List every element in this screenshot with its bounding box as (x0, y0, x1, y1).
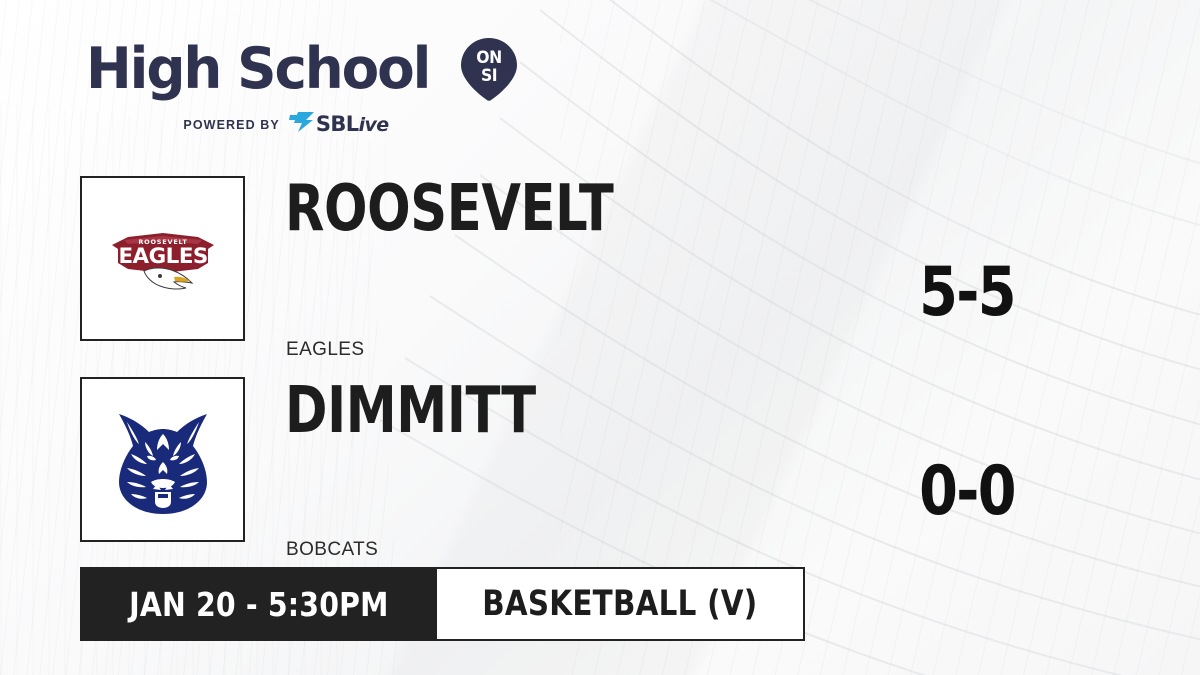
event-banner: JAN 20 - 5:30PM BASKETBALL (V) (80, 567, 805, 641)
team-mascot-roosevelt: EAGLES (286, 339, 364, 361)
svg-text:ON: ON (476, 47, 501, 67)
powered-by-row: POWERED BY SBLive (86, 112, 486, 137)
event-sport-block: BASKETBALL (V) (437, 567, 805, 641)
team-record-roosevelt: 5-5 (893, 259, 1041, 327)
sblive-logo: SBLive (289, 112, 389, 137)
svg-text:SI: SI (480, 65, 496, 85)
sblive-main: SBL (316, 112, 359, 136)
powered-by-label: POWERED BY (183, 118, 279, 132)
logo-wordmark: High School (86, 41, 429, 98)
team-name-roosevelt: ROOSEVELT (285, 177, 613, 241)
team-logo-roosevelt: ROOSEVELT EAGLES (80, 176, 245, 341)
team-record-dimmitt: 0-0 (893, 458, 1041, 526)
sblive-suffix: ive (359, 114, 389, 136)
svg-text:EAGLES: EAGLES (118, 244, 207, 269)
on-si-pin-icon: ON SI (456, 36, 522, 102)
sblive-wordmark: SBLive (316, 114, 389, 135)
event-datetime: JAN 20 - 5:30PM (129, 585, 388, 624)
event-sport: BASKETBALL (V) (482, 584, 757, 624)
sblive-bolt-icon (289, 112, 315, 137)
site-logo[interactable]: High School ON SI POWERED BY SBLive (86, 36, 522, 137)
logo-row: High School ON SI (86, 36, 522, 102)
matchup-graphic: High School ON SI POWERED BY SBLive (0, 0, 1200, 675)
team-name-dimmitt: DIMMITT (285, 379, 536, 443)
event-datetime-block: JAN 20 - 5:30PM (80, 567, 437, 641)
team-logo-dimmitt (80, 377, 245, 542)
team-mascot-dimmitt: BOBCATS (286, 539, 378, 561)
